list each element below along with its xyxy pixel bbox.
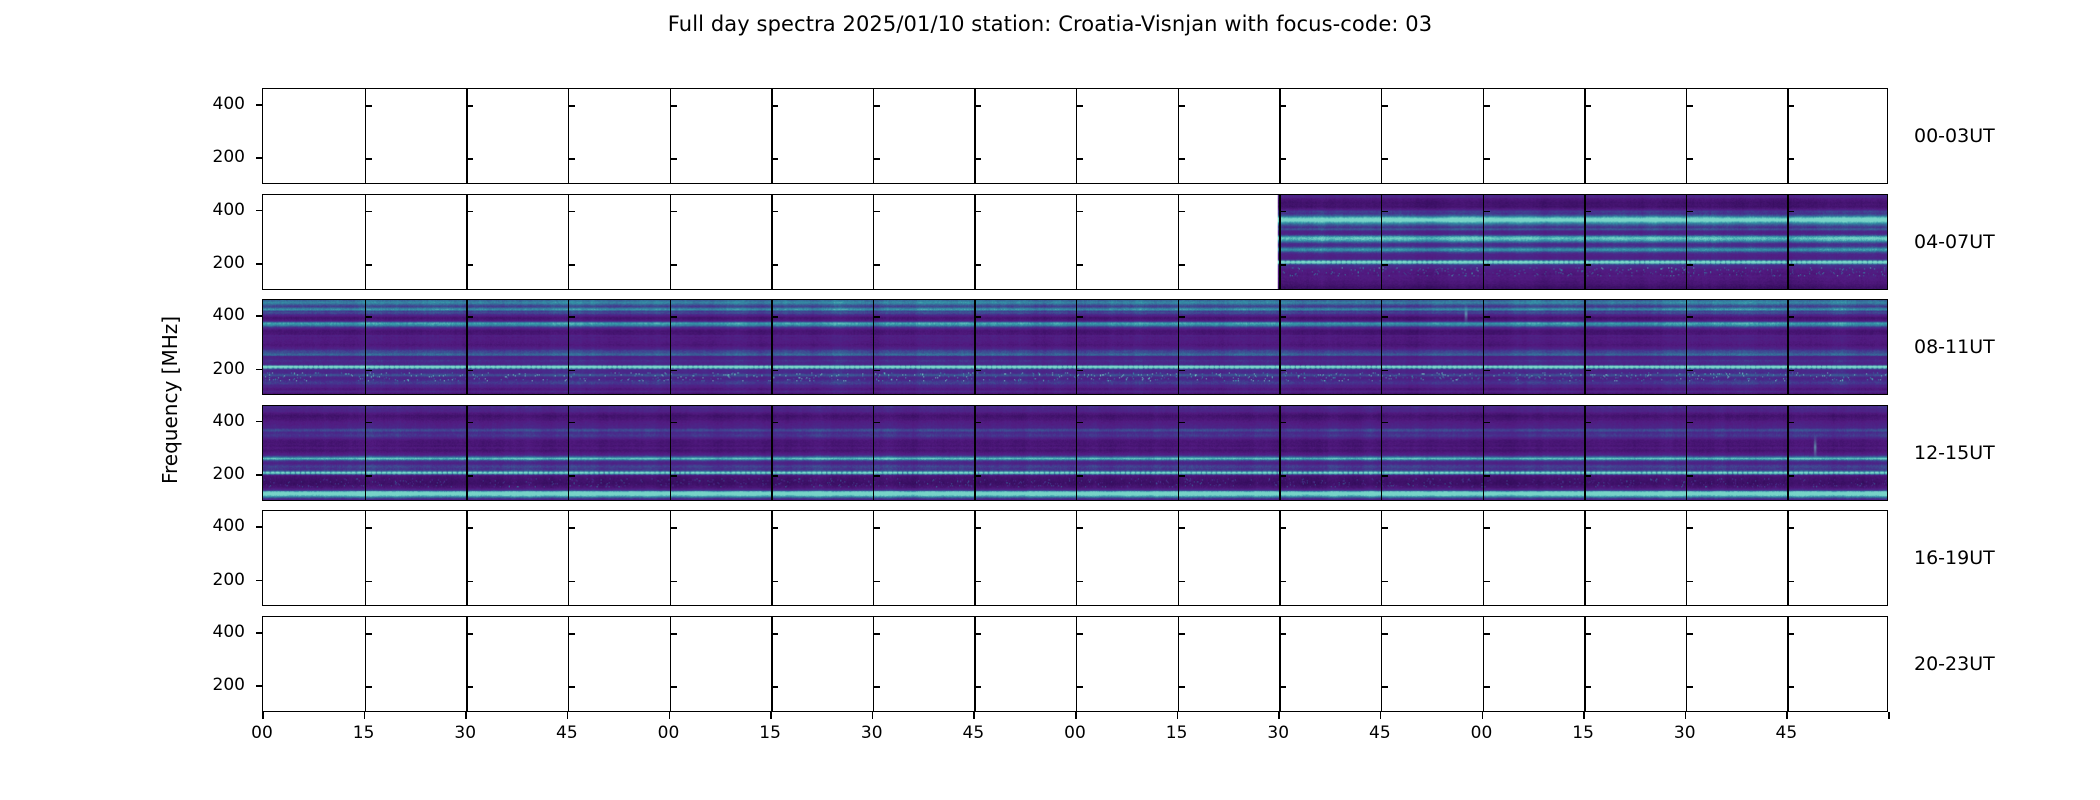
panel-inner-tick bbox=[1178, 158, 1185, 160]
panel-inner-tick bbox=[1483, 370, 1490, 372]
panel-separator bbox=[873, 89, 874, 183]
panel-inner-tick bbox=[974, 633, 981, 635]
x-axis-tick-label: 30 bbox=[454, 723, 476, 743]
panel-inner-tick bbox=[771, 370, 778, 372]
panel-inner-tick bbox=[1178, 422, 1185, 424]
x-axis-tick-label: 15 bbox=[1166, 723, 1188, 743]
panel-inner-tick bbox=[568, 633, 575, 635]
panel-inner-tick bbox=[568, 527, 575, 529]
x-axis-tick-label: 45 bbox=[1369, 723, 1391, 743]
panel-inner-tick bbox=[466, 581, 473, 583]
panel-inner-tick bbox=[568, 475, 575, 477]
panel-separator bbox=[974, 89, 975, 183]
x-axis-tick-label: 15 bbox=[759, 723, 781, 743]
panel-inner-tick bbox=[974, 581, 981, 583]
x-axis-tick-label: 45 bbox=[556, 723, 578, 743]
x-axis-tick-label: 00 bbox=[1064, 723, 1086, 743]
panel-inner-tick bbox=[1178, 633, 1185, 635]
panel-separator bbox=[1787, 406, 1788, 500]
y-axis-tick bbox=[256, 369, 262, 371]
x-axis-tick bbox=[465, 712, 467, 719]
panel-separator bbox=[1076, 617, 1077, 711]
panel-inner-tick bbox=[1178, 686, 1185, 688]
x-axis-tick-label: 30 bbox=[1267, 723, 1289, 743]
panel-separator bbox=[771, 406, 772, 500]
panel-inner-tick bbox=[1584, 211, 1591, 213]
panel-inner-tick bbox=[873, 158, 880, 160]
x-axis-tick bbox=[1786, 712, 1788, 719]
panel-inner-tick bbox=[1483, 105, 1490, 107]
panel-inner-tick bbox=[1279, 581, 1286, 583]
panel-inner-tick bbox=[771, 158, 778, 160]
panel-separator bbox=[1381, 300, 1382, 394]
panel-inner-tick bbox=[1178, 316, 1185, 318]
x-axis-tick-label: 45 bbox=[1776, 723, 1798, 743]
panel-inner-tick bbox=[1686, 316, 1693, 318]
panel-inner-tick bbox=[771, 686, 778, 688]
y-axis-tick-label: 400 bbox=[213, 305, 245, 325]
panel-inner-tick bbox=[771, 211, 778, 213]
panel-separator bbox=[568, 195, 569, 289]
panel-separator bbox=[873, 406, 874, 500]
panel-separator bbox=[1279, 300, 1280, 394]
panel-separator bbox=[974, 511, 975, 605]
spectrogram-image bbox=[263, 300, 1887, 394]
panel-inner-tick bbox=[1483, 211, 1490, 213]
panel-inner-tick bbox=[365, 686, 372, 688]
panel-inner-tick bbox=[1178, 211, 1185, 213]
x-axis-tick bbox=[1278, 712, 1280, 719]
panel-separator bbox=[365, 195, 366, 289]
panel-inner-tick bbox=[771, 475, 778, 477]
panel-separator bbox=[1076, 195, 1077, 289]
panel-inner-tick bbox=[466, 475, 473, 477]
page-title: Full day spectra 2025/01/10 station: Cro… bbox=[0, 12, 2100, 36]
panel-inner-tick bbox=[1483, 581, 1490, 583]
panel-inner-tick bbox=[670, 475, 677, 477]
panel-separator bbox=[1381, 511, 1382, 605]
x-axis-tick bbox=[1583, 712, 1585, 719]
panel-inner-tick bbox=[1279, 686, 1286, 688]
panel-separator bbox=[873, 300, 874, 394]
x-axis-tick-label: 00 bbox=[658, 723, 680, 743]
panel-inner-tick bbox=[466, 370, 473, 372]
panel-inner-tick bbox=[670, 686, 677, 688]
panel-inner-tick bbox=[670, 264, 677, 266]
spectrogram-image bbox=[263, 89, 1887, 183]
row-label-20-23ut: 20-23UT bbox=[1914, 653, 1995, 675]
panel-inner-tick bbox=[568, 370, 575, 372]
panel-inner-tick bbox=[1686, 105, 1693, 107]
panel-inner-tick bbox=[1584, 370, 1591, 372]
panel-separator bbox=[466, 617, 467, 711]
panel-inner-tick bbox=[1686, 422, 1693, 424]
panel-inner-tick bbox=[1686, 686, 1693, 688]
y-axis-tick bbox=[256, 315, 262, 317]
row-label-08-11ut: 08-11UT bbox=[1914, 336, 1995, 358]
panel-inner-tick bbox=[1076, 527, 1083, 529]
panel-separator bbox=[1279, 406, 1280, 500]
x-axis-tick bbox=[364, 712, 366, 719]
y-axis-tick bbox=[256, 474, 262, 476]
panel-inner-tick bbox=[873, 264, 880, 266]
y-axis-tick-label: 200 bbox=[213, 464, 245, 484]
panel-inner-tick bbox=[771, 264, 778, 266]
x-axis-tick-label: 30 bbox=[1674, 723, 1696, 743]
panel-inner-tick bbox=[568, 581, 575, 583]
panel-inner-tick bbox=[568, 211, 575, 213]
panel-inner-tick bbox=[466, 158, 473, 160]
panel-separator bbox=[1686, 195, 1687, 289]
panel-separator bbox=[466, 300, 467, 394]
spectrogram-image bbox=[263, 617, 1887, 711]
panel-inner-tick bbox=[873, 475, 880, 477]
panel-inner-tick bbox=[1279, 633, 1286, 635]
panel-inner-tick bbox=[1483, 316, 1490, 318]
panel-separator bbox=[1686, 89, 1687, 183]
panel-inner-tick bbox=[1279, 370, 1286, 372]
panel-inner-tick bbox=[873, 633, 880, 635]
panel-inner-tick bbox=[873, 527, 880, 529]
panel-inner-tick bbox=[771, 105, 778, 107]
panel-inner-tick bbox=[771, 633, 778, 635]
panel-inner-tick bbox=[1178, 105, 1185, 107]
x-axis-tick bbox=[1482, 712, 1484, 719]
panel-inner-tick bbox=[873, 370, 880, 372]
panel-inner-tick bbox=[1686, 211, 1693, 213]
panel-inner-tick bbox=[466, 686, 473, 688]
panel-separator bbox=[1787, 195, 1788, 289]
panel-inner-tick bbox=[1787, 581, 1794, 583]
panel-separator bbox=[1686, 406, 1687, 500]
panel-inner-tick bbox=[1584, 527, 1591, 529]
panel-inner-tick bbox=[1787, 264, 1794, 266]
y-axis-tick-label: 400 bbox=[213, 411, 245, 431]
panel-separator bbox=[1076, 89, 1077, 183]
panel-inner-tick bbox=[670, 105, 677, 107]
x-axis-tick-label: 30 bbox=[861, 723, 883, 743]
panel-inner-tick bbox=[466, 264, 473, 266]
panel-inner-tick bbox=[1076, 633, 1083, 635]
x-axis-tick bbox=[262, 712, 264, 719]
panel-inner-tick bbox=[1686, 527, 1693, 529]
panel-separator bbox=[1483, 300, 1484, 394]
panel-separator bbox=[466, 406, 467, 500]
panel-inner-tick bbox=[1279, 475, 1286, 477]
panel-inner-tick bbox=[365, 527, 372, 529]
panel-inner-tick bbox=[1584, 422, 1591, 424]
panel-separator bbox=[365, 89, 366, 183]
panel-inner-tick bbox=[1584, 633, 1591, 635]
panel-inner-tick bbox=[365, 105, 372, 107]
panel-inner-tick bbox=[873, 105, 880, 107]
panel-inner-tick bbox=[1381, 527, 1388, 529]
x-axis-tick bbox=[973, 712, 975, 719]
panel-inner-tick bbox=[1787, 475, 1794, 477]
panel-inner-tick bbox=[568, 264, 575, 266]
panel-inner-tick bbox=[1584, 158, 1591, 160]
panel-inner-tick bbox=[1381, 211, 1388, 213]
row-label-04-07ut: 04-07UT bbox=[1914, 231, 1995, 253]
x-axis-tick bbox=[872, 712, 874, 719]
panel-separator bbox=[1686, 300, 1687, 394]
x-axis-tick-label: 00 bbox=[251, 723, 273, 743]
panel-separator bbox=[974, 406, 975, 500]
panel-inner-tick bbox=[1178, 475, 1185, 477]
panel-separator bbox=[365, 617, 366, 711]
panel-inner-tick bbox=[1787, 211, 1794, 213]
panel-inner-tick bbox=[1279, 316, 1286, 318]
panel-inner-tick bbox=[1686, 264, 1693, 266]
panel-separator bbox=[974, 617, 975, 711]
panel-inner-tick bbox=[568, 422, 575, 424]
spectrogram-row-08-11ut bbox=[262, 299, 1888, 395]
panel-separator bbox=[1178, 406, 1179, 500]
panel-inner-tick bbox=[1279, 527, 1286, 529]
panel-inner-tick bbox=[1787, 422, 1794, 424]
y-axis-tick-label: 200 bbox=[213, 359, 245, 379]
panel-inner-tick bbox=[974, 475, 981, 477]
panel-separator bbox=[1483, 406, 1484, 500]
panel-inner-tick bbox=[771, 422, 778, 424]
panel-separator bbox=[1279, 195, 1280, 289]
panel-inner-tick bbox=[1787, 105, 1794, 107]
panel-inner-tick bbox=[568, 105, 575, 107]
panel-inner-tick bbox=[1686, 370, 1693, 372]
panel-inner-tick bbox=[1483, 422, 1490, 424]
panel-inner-tick bbox=[365, 264, 372, 266]
panel-inner-tick bbox=[1787, 158, 1794, 160]
panel-inner-tick bbox=[1381, 633, 1388, 635]
panel-separator bbox=[365, 300, 366, 394]
panel-inner-tick bbox=[1381, 686, 1388, 688]
spectrogram-image bbox=[263, 195, 1887, 289]
y-axis-tick-label: 200 bbox=[213, 570, 245, 590]
x-axis-tick-label: 15 bbox=[1572, 723, 1594, 743]
y-axis-tick-label: 400 bbox=[213, 622, 245, 642]
panel-separator bbox=[1584, 89, 1585, 183]
panel-inner-tick bbox=[670, 316, 677, 318]
spectrogram-figure: Full day spectra 2025/01/10 station: Cro… bbox=[0, 0, 2100, 800]
panel-inner-tick bbox=[1381, 422, 1388, 424]
panel-inner-tick bbox=[1076, 370, 1083, 372]
spectrogram-image bbox=[263, 511, 1887, 605]
panel-separator bbox=[1178, 195, 1179, 289]
panel-inner-tick bbox=[365, 475, 372, 477]
spectrogram-image bbox=[263, 406, 1887, 500]
panel-inner-tick bbox=[1483, 158, 1490, 160]
panel-inner-tick bbox=[974, 105, 981, 107]
panel-inner-tick bbox=[1381, 370, 1388, 372]
y-axis-tick-label: 200 bbox=[213, 675, 245, 695]
panel-inner-tick bbox=[771, 581, 778, 583]
panel-inner-tick bbox=[873, 211, 880, 213]
plot-grid: 40020000-03UT40020004-07UT40020008-11UT4… bbox=[262, 88, 1888, 712]
x-axis-tick bbox=[1380, 712, 1382, 719]
panel-separator bbox=[974, 300, 975, 394]
panel-inner-tick bbox=[1787, 316, 1794, 318]
spectrogram-row-12-15ut bbox=[262, 405, 1888, 501]
y-axis-tick-label: 200 bbox=[213, 147, 245, 167]
y-axis-tick bbox=[256, 421, 262, 423]
panel-inner-tick bbox=[1584, 581, 1591, 583]
panel-inner-tick bbox=[1076, 264, 1083, 266]
panel-inner-tick bbox=[974, 422, 981, 424]
panel-inner-tick bbox=[771, 316, 778, 318]
panel-separator bbox=[1381, 406, 1382, 500]
panel-inner-tick bbox=[1178, 581, 1185, 583]
y-axis-tick bbox=[256, 210, 262, 212]
panel-inner-tick bbox=[365, 633, 372, 635]
panel-inner-tick bbox=[1381, 158, 1388, 160]
row-label-16-19ut: 16-19UT bbox=[1914, 547, 1995, 569]
x-axis-tick-label: 00 bbox=[1471, 723, 1493, 743]
y-axis-tick bbox=[256, 526, 262, 528]
panel-inner-tick bbox=[1076, 105, 1083, 107]
panel-inner-tick bbox=[365, 370, 372, 372]
panel-separator bbox=[1279, 511, 1280, 605]
panel-separator bbox=[1483, 89, 1484, 183]
panel-separator bbox=[1381, 617, 1382, 711]
x-axis-tick-label: 15 bbox=[353, 723, 375, 743]
panel-separator bbox=[1787, 511, 1788, 605]
panel-inner-tick bbox=[1178, 264, 1185, 266]
panel-separator bbox=[1076, 300, 1077, 394]
spectrogram-row-20-23ut bbox=[262, 616, 1888, 712]
panel-inner-tick bbox=[1686, 581, 1693, 583]
panel-inner-tick bbox=[1381, 316, 1388, 318]
panel-inner-tick bbox=[365, 581, 372, 583]
panel-separator bbox=[1483, 617, 1484, 711]
panel-separator bbox=[1381, 89, 1382, 183]
panel-separator bbox=[365, 511, 366, 605]
panel-inner-tick bbox=[1279, 211, 1286, 213]
x-axis: 00153045001530450015304500153045 bbox=[262, 712, 1888, 756]
panel-inner-tick bbox=[1584, 264, 1591, 266]
panel-separator bbox=[466, 511, 467, 605]
panel-inner-tick bbox=[974, 211, 981, 213]
panel-inner-tick bbox=[974, 316, 981, 318]
panel-inner-tick bbox=[1584, 316, 1591, 318]
panel-separator bbox=[670, 617, 671, 711]
panel-separator bbox=[1584, 406, 1585, 500]
y-axis-tick bbox=[256, 104, 262, 106]
panel-separator bbox=[670, 195, 671, 289]
panel-inner-tick bbox=[1483, 686, 1490, 688]
panel-inner-tick bbox=[1483, 264, 1490, 266]
x-axis-tick bbox=[1888, 712, 1890, 719]
panel-inner-tick bbox=[974, 370, 981, 372]
panel-separator bbox=[1076, 511, 1077, 605]
panel-separator bbox=[1584, 617, 1585, 711]
panel-separator bbox=[1381, 195, 1382, 289]
x-axis-tick bbox=[770, 712, 772, 719]
panel-separator bbox=[771, 195, 772, 289]
row-label-12-15ut: 12-15UT bbox=[1914, 442, 1995, 464]
panel-separator bbox=[466, 89, 467, 183]
x-axis-tick bbox=[1685, 712, 1687, 719]
panel-inner-tick bbox=[974, 158, 981, 160]
panel-inner-tick bbox=[365, 422, 372, 424]
panel-separator bbox=[1787, 300, 1788, 394]
y-axis-tick bbox=[256, 263, 262, 265]
panel-separator bbox=[568, 617, 569, 711]
panel-inner-tick bbox=[466, 527, 473, 529]
panel-inner-tick bbox=[1076, 316, 1083, 318]
panel-separator bbox=[1279, 617, 1280, 711]
y-axis-label: Frequency [MHz] bbox=[158, 316, 182, 484]
panel-inner-tick bbox=[365, 316, 372, 318]
y-axis-tick bbox=[256, 685, 262, 687]
panel-inner-tick bbox=[771, 527, 778, 529]
panel-inner-tick bbox=[670, 527, 677, 529]
panel-separator bbox=[670, 511, 671, 605]
panel-inner-tick bbox=[365, 211, 372, 213]
panel-inner-tick bbox=[1483, 475, 1490, 477]
panel-inner-tick bbox=[1787, 686, 1794, 688]
panel-inner-tick bbox=[1279, 105, 1286, 107]
panel-separator bbox=[873, 511, 874, 605]
x-axis-tick bbox=[1177, 712, 1179, 719]
x-axis-tick bbox=[567, 712, 569, 719]
panel-separator bbox=[568, 300, 569, 394]
panel-separator bbox=[1483, 511, 1484, 605]
panel-inner-tick bbox=[1584, 475, 1591, 477]
panel-inner-tick bbox=[1381, 264, 1388, 266]
panel-inner-tick bbox=[1584, 686, 1591, 688]
panel-inner-tick bbox=[670, 581, 677, 583]
x-axis-tick bbox=[1075, 712, 1077, 719]
y-axis-tick-label: 200 bbox=[213, 253, 245, 273]
panel-separator bbox=[1178, 511, 1179, 605]
panel-separator bbox=[873, 195, 874, 289]
panel-inner-tick bbox=[466, 211, 473, 213]
panel-inner-tick bbox=[466, 316, 473, 318]
panel-inner-tick bbox=[466, 105, 473, 107]
y-axis-tick-label: 400 bbox=[213, 516, 245, 536]
panel-inner-tick bbox=[466, 633, 473, 635]
panel-separator bbox=[466, 195, 467, 289]
panel-inner-tick bbox=[873, 581, 880, 583]
panel-separator bbox=[670, 300, 671, 394]
panel-inner-tick bbox=[670, 211, 677, 213]
panel-inner-tick bbox=[670, 370, 677, 372]
spectrogram-row-04-07ut bbox=[262, 194, 1888, 290]
panel-separator bbox=[1686, 511, 1687, 605]
panel-inner-tick bbox=[1076, 211, 1083, 213]
y-axis-tick bbox=[256, 580, 262, 582]
panel-inner-tick bbox=[466, 422, 473, 424]
panel-inner-tick bbox=[1381, 475, 1388, 477]
panel-inner-tick bbox=[873, 316, 880, 318]
x-axis-tick-label: 45 bbox=[963, 723, 985, 743]
panel-separator bbox=[670, 406, 671, 500]
panel-inner-tick bbox=[670, 422, 677, 424]
panel-inner-tick bbox=[873, 686, 880, 688]
y-axis-tick-label: 400 bbox=[213, 200, 245, 220]
panel-inner-tick bbox=[1076, 686, 1083, 688]
y-axis-tick bbox=[256, 632, 262, 634]
x-axis-tick bbox=[669, 712, 671, 719]
panel-separator bbox=[1076, 406, 1077, 500]
panel-separator bbox=[873, 617, 874, 711]
panel-inner-tick bbox=[974, 527, 981, 529]
panel-separator bbox=[568, 511, 569, 605]
panel-separator bbox=[771, 89, 772, 183]
y-axis-tick-label: 400 bbox=[213, 94, 245, 114]
panel-inner-tick bbox=[670, 633, 677, 635]
panel-separator bbox=[1178, 300, 1179, 394]
